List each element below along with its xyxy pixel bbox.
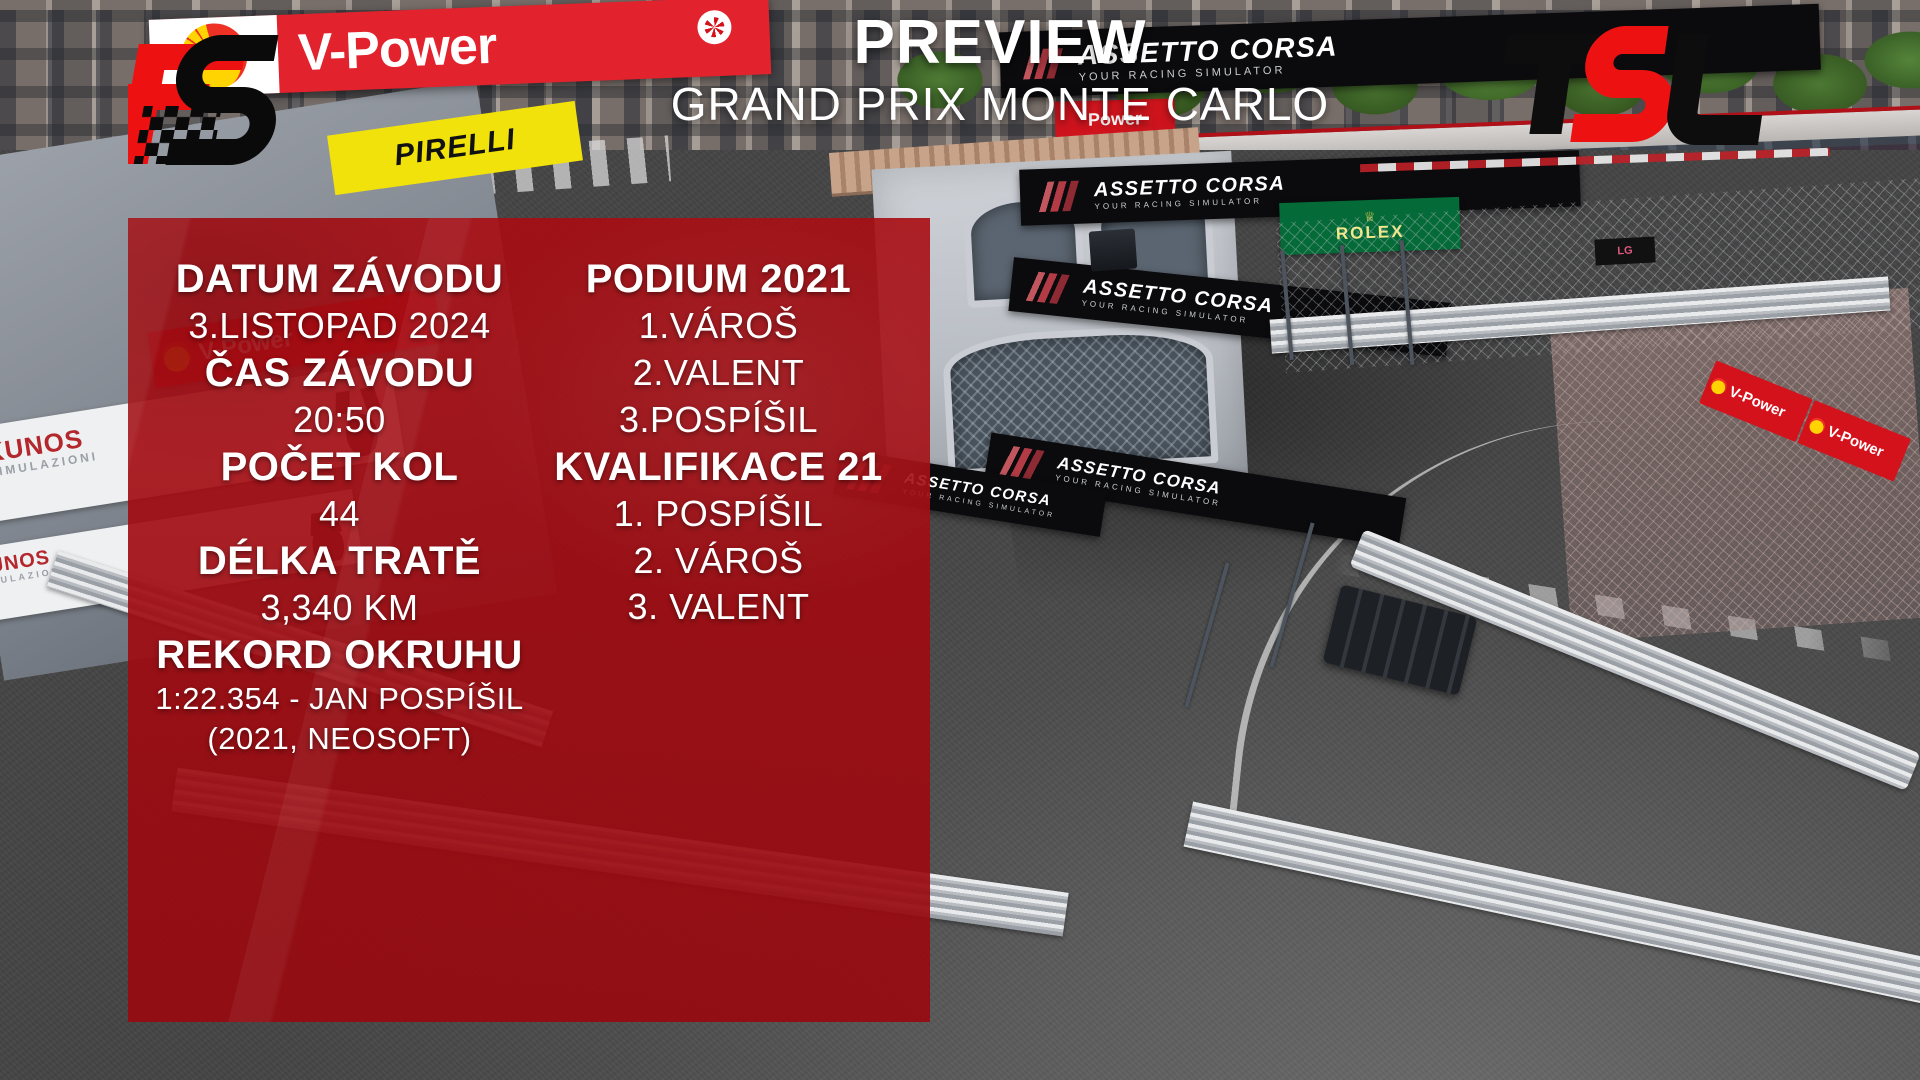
podium-entry-2: 2.VALENT — [633, 350, 804, 397]
race-info-panel: DATUM ZÁVODU 3.LISTOPAD 2024 ČAS ZÁVODU … — [128, 218, 930, 1022]
vpower-billboard-text: V-Power — [277, 5, 771, 84]
vpower-rail-text-2: V-Power — [1825, 422, 1886, 460]
value-race-date: 3.LISTOPAD 2024 — [188, 303, 490, 350]
assetto-corsa-logo-icon — [1022, 48, 1069, 80]
podium-entry-3: 3.POSPÍŠIL — [619, 397, 818, 444]
assetto-corsa-logo-icon — [1026, 271, 1075, 306]
label-qualifying: KVALIFIKACE 21 — [554, 444, 883, 491]
value-track-length: 3,340 KM — [260, 585, 418, 632]
tsl-logo-l — [1680, 34, 1773, 130]
lg-sign: LG — [1594, 236, 1655, 265]
shell-logo-icon — [1708, 376, 1729, 397]
podium-entry-1: 1.VÁROŠ — [639, 303, 799, 350]
screenshot-stage: KUNOS SIMULAZIONI KUNOS SIMULAZIONI V-Po… — [0, 0, 1920, 1080]
qualifying-entry-3: 3. VALENT — [628, 584, 810, 631]
qualifying-entry-1: 1. POSPÍŠIL — [614, 491, 824, 538]
value-lap-record-detail: (2021, NEOSOFT) — [207, 719, 471, 759]
race-info-left-column: DATUM ZÁVODU 3.LISTOPAD 2024 ČAS ZÁVODU … — [150, 244, 529, 1022]
assetto-corsa-logo-icon — [1038, 181, 1085, 213]
value-lap-record: 1:22.354 - JAN POSPÍŠIL — [155, 679, 523, 719]
label-lap-count: POČET KOL — [221, 444, 459, 491]
value-lap-count: 44 — [319, 491, 360, 538]
label-track-length: DÉLKA TRATĚ — [198, 538, 481, 585]
marshal-post — [1089, 228, 1138, 271]
qualifying-entry-2: 2. VÁROŠ — [633, 538, 803, 585]
shell-logo-icon — [1807, 415, 1828, 436]
vpower-rail-text-1: V-Power — [1727, 383, 1788, 421]
fs-logo — [128, 26, 328, 174]
label-race-date: DATUM ZÁVODU — [176, 256, 503, 303]
value-race-time: 20:50 — [293, 397, 386, 444]
label-race-time: ČAS ZÁVODU — [205, 350, 474, 397]
race-info-right-column: PODIUM 2021 1.VÁROŠ 2.VALENT 3.POSPÍŠIL … — [529, 244, 908, 1022]
tsl-logo — [1500, 16, 1800, 156]
label-lap-record: REKORD OKRUHU — [156, 632, 523, 679]
label-podium: PODIUM 2021 — [586, 256, 852, 303]
